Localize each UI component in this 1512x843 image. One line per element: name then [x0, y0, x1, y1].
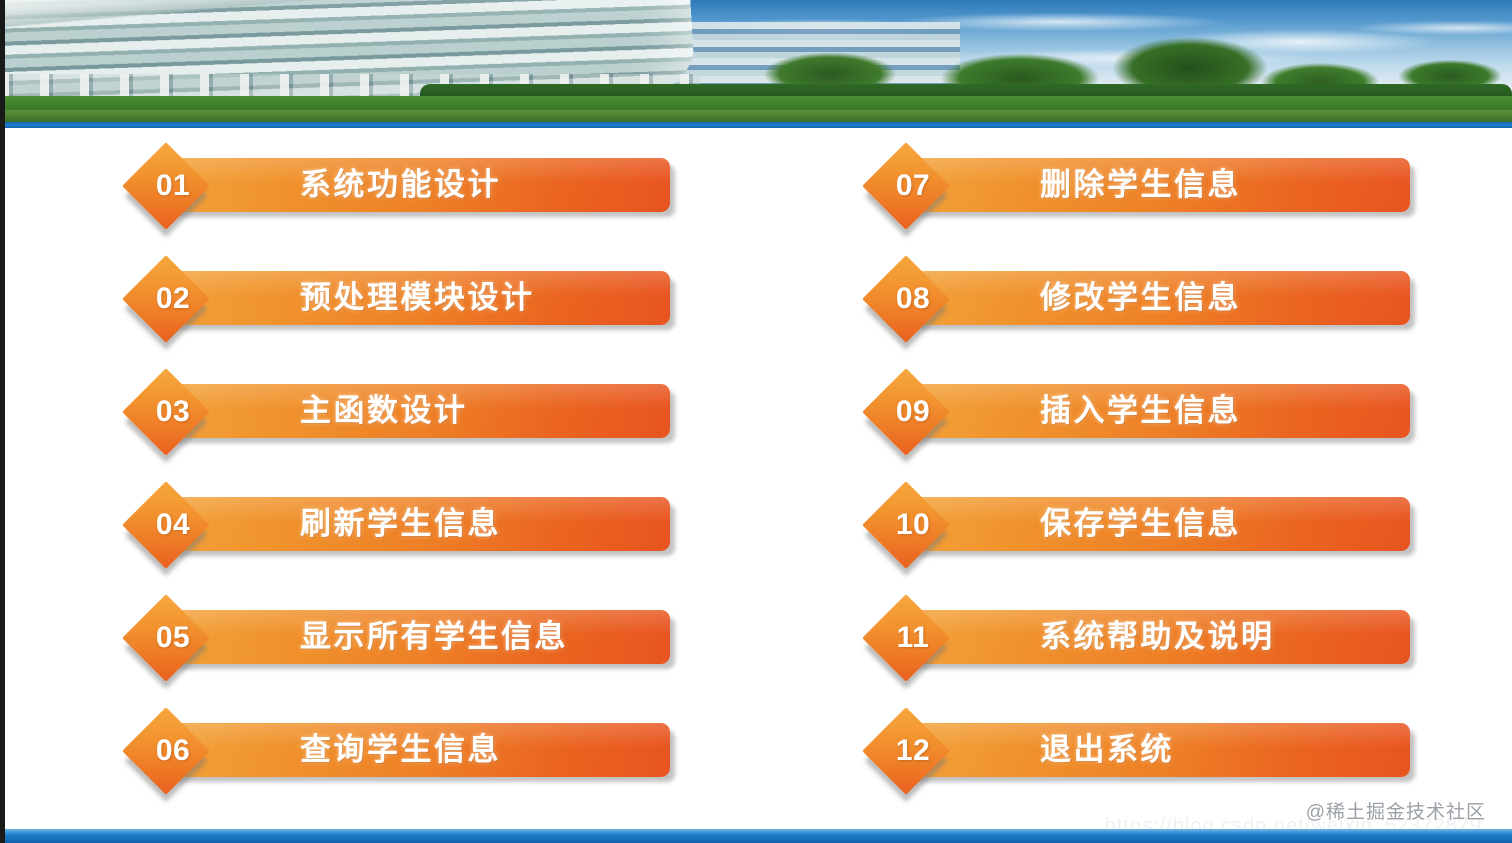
menu-item-10[interactable]: 保存学生信息10	[862, 481, 1418, 567]
menu-item-label: 删除学生信息	[1040, 158, 1241, 212]
menu-item-number-diamond: 07	[862, 142, 950, 230]
menu-item-09[interactable]: 插入学生信息09	[862, 368, 1418, 454]
menu-item-number: 04	[122, 481, 210, 569]
menu-item-number: 02	[122, 255, 210, 343]
menu-item-label: 主函数设计	[300, 384, 468, 438]
left-edge-strip	[0, 0, 5, 843]
menu-item-05[interactable]: 显示所有学生信息05	[122, 594, 678, 680]
menu-item-label: 显示所有学生信息	[300, 610, 568, 664]
menu-item-number-diamond: 10	[862, 481, 950, 569]
menu-item-number: 01	[122, 142, 210, 230]
menu-item-number: 05	[122, 594, 210, 682]
menu-item-number: 07	[862, 142, 950, 230]
menu-item-number-diamond: 01	[122, 142, 210, 230]
header-banner-image	[0, 0, 1512, 128]
menu-item-label: 预处理模块设计	[300, 271, 535, 325]
menu-item-number-diamond: 05	[122, 594, 210, 682]
menu-column-right: 删除学生信息07修改学生信息08插入学生信息09保存学生信息10系统帮助及说明1…	[862, 128, 1422, 818]
menu-item-number-diamond: 06	[122, 707, 210, 795]
menu-item-08[interactable]: 修改学生信息08	[862, 255, 1418, 341]
menu-item-number-diamond: 03	[122, 368, 210, 456]
menu-item-12[interactable]: 退出系统12	[862, 707, 1418, 793]
menu-item-number-diamond: 11	[862, 594, 950, 682]
menu-item-label: 刷新学生信息	[300, 497, 501, 551]
menu-item-11[interactable]: 系统帮助及说明11	[862, 594, 1418, 680]
menu-item-03[interactable]: 主函数设计03	[122, 368, 678, 454]
menu-item-label: 查询学生信息	[300, 723, 501, 777]
menu-item-number: 12	[862, 707, 950, 795]
watermark-brand: @稀土掘金技术社区	[1306, 797, 1486, 824]
menu-item-number: 10	[862, 481, 950, 569]
menu-item-label: 系统帮助及说明	[1040, 610, 1275, 664]
menu-item-number: 11	[862, 594, 950, 682]
menu-item-number-diamond: 09	[862, 368, 950, 456]
menu-item-number: 08	[862, 255, 950, 343]
menu-item-number-diamond: 04	[122, 481, 210, 569]
menu-item-04[interactable]: 刷新学生信息04	[122, 481, 678, 567]
menu-item-number: 09	[862, 368, 950, 456]
menu-item-06[interactable]: 查询学生信息06	[122, 707, 678, 793]
menu-item-label: 保存学生信息	[1040, 497, 1241, 551]
menu-item-01[interactable]: 系统功能设计01	[122, 142, 678, 228]
menu-item-07[interactable]: 删除学生信息07	[862, 142, 1418, 228]
menu-item-number: 03	[122, 368, 210, 456]
banner-lawn-foreground	[0, 110, 1512, 122]
menu-item-label: 退出系统	[1040, 723, 1174, 777]
menu-item-02[interactable]: 预处理模块设计02	[122, 255, 678, 341]
slide-canvas: 系统功能设计01预处理模块设计02主函数设计03刷新学生信息04显示所有学生信息…	[0, 0, 1512, 843]
menu-item-label: 插入学生信息	[1040, 384, 1241, 438]
menu-item-number: 06	[122, 707, 210, 795]
menu-item-number-diamond: 08	[862, 255, 950, 343]
menu-item-label: 系统功能设计	[300, 158, 501, 212]
menu-column-left: 系统功能设计01预处理模块设计02主函数设计03刷新学生信息04显示所有学生信息…	[122, 128, 682, 818]
menu-item-label: 修改学生信息	[1040, 271, 1241, 325]
menu-item-number-diamond: 02	[122, 255, 210, 343]
menu-grid: 系统功能设计01预处理模块设计02主函数设计03刷新学生信息04显示所有学生信息…	[0, 128, 1512, 818]
menu-item-number-diamond: 12	[862, 707, 950, 795]
footer-blue-bar	[0, 829, 1512, 843]
